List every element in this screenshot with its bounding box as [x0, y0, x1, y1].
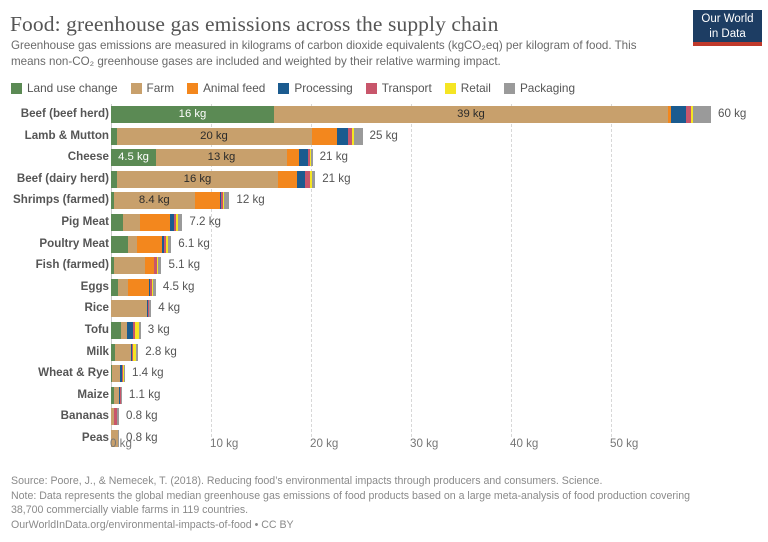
legend-label: Retail — [461, 81, 491, 95]
bar-row[interactable]: Maize1.1 kg — [0, 385, 768, 407]
legend-label: Packaging — [520, 81, 575, 95]
stacked-bar[interactable] — [111, 214, 182, 231]
legend-swatch-icon — [11, 83, 22, 94]
bar-segment-farm[interactable]: 8.4 kg — [114, 192, 195, 209]
category-label: Bananas — [61, 409, 109, 422]
bar-segment-packaging[interactable] — [178, 214, 183, 231]
bar-segment-packaging[interactable] — [158, 257, 162, 274]
stacked-bar[interactable] — [111, 322, 141, 339]
chart-page: Food: greenhouse gas emissions across th… — [0, 0, 768, 542]
bar-segment-packaging[interactable] — [121, 387, 122, 404]
bar-segment-packaging[interactable] — [693, 106, 711, 123]
bar-row[interactable]: Wheat & Rye1.4 kg — [0, 363, 768, 385]
segment-value-label: 20 kg — [117, 128, 312, 145]
bar-row[interactable]: Beef (dairy herd)16 kg21 kg — [0, 169, 768, 191]
legend-label: Animal feed — [203, 81, 265, 95]
bar-total-label: 12 kg — [236, 193, 264, 206]
bar-segment-farm[interactable] — [112, 365, 120, 382]
bar-segment-animal-feed[interactable] — [287, 149, 299, 166]
chart-legend: Land use changeFarmAnimal feedProcessing… — [11, 81, 588, 95]
bar-total-label: 2.8 kg — [145, 345, 177, 358]
segment-value-label: 39 kg — [274, 106, 668, 123]
bar-segment-farm[interactable]: 16 kg — [117, 171, 278, 188]
bar-segment-animal-feed[interactable] — [137, 236, 162, 253]
bar-total-label: 5.1 kg — [169, 258, 201, 271]
legend-swatch-icon — [366, 83, 377, 94]
legend-swatch-icon — [504, 83, 515, 94]
category-label: Milk — [86, 345, 109, 358]
page-title: Food: greenhouse gas emissions across th… — [10, 12, 498, 37]
category-label: Rice — [85, 301, 110, 314]
legend-item-transport[interactable]: Transport — [366, 81, 432, 95]
footer-license[interactable]: OurWorldInData.org/environmental-impacts… — [11, 518, 711, 533]
bar-segment-farm[interactable] — [115, 344, 131, 361]
chart-footer: Source: Poore, J., & Nemecek, T. (2018).… — [11, 474, 711, 532]
our-world-in-data-logo[interactable]: Our World in Data — [693, 10, 762, 46]
x-tick-label: 50 kg — [610, 437, 638, 450]
bar-row[interactable]: Milk2.8 kg — [0, 342, 768, 364]
bar-segment-packaging[interactable] — [139, 322, 141, 339]
bar-segment-land-use-change[interactable]: 4.5 kg — [111, 149, 156, 166]
bar-total-label: 4.5 kg — [163, 280, 195, 293]
category-label: Beef (dairy herd) — [17, 172, 109, 185]
bar-total-label: 7.2 kg — [189, 215, 221, 228]
bar-segment-packaging[interactable] — [312, 171, 316, 188]
legend-item-packaging[interactable]: Packaging — [504, 81, 575, 95]
bar-segment-packaging[interactable] — [153, 279, 156, 296]
bar-row[interactable]: Poultry Meat6.1 kg — [0, 234, 768, 256]
category-label: Tofu — [85, 323, 109, 336]
bar-row[interactable]: Pig Meat7.2 kg — [0, 212, 768, 234]
bar-segment-processing[interactable] — [337, 128, 348, 145]
category-label: Eggs — [81, 280, 109, 293]
stacked-bar[interactable] — [111, 387, 122, 404]
legend-item-land-use-change[interactable]: Land use change — [11, 81, 118, 95]
category-label: Cheese — [68, 150, 109, 163]
x-tick-label: 10 kg — [210, 437, 238, 450]
bar-row[interactable]: Cheese4.5 kg13 kg21 kg — [0, 147, 768, 169]
stacked-bar[interactable] — [111, 408, 119, 425]
bar-segment-land-use-change[interactable] — [111, 322, 121, 339]
segment-value-label: 8.4 kg — [114, 192, 195, 209]
bar-segment-farm[interactable] — [128, 236, 137, 253]
bar-total-label: 6.1 kg — [178, 237, 210, 250]
bar-rows: Beef (beef herd)16 kg39 kg60 kgLamb & Mu… — [0, 104, 768, 450]
legend-label: Transport — [382, 81, 432, 95]
bar-segment-packaging[interactable] — [117, 408, 119, 425]
bar-row[interactable]: Lamb & Mutton20 kg25 kg — [0, 126, 768, 148]
footer-note: Note: Data represents the global median … — [11, 489, 711, 518]
stacked-bar[interactable] — [111, 257, 161, 274]
bar-total-label: 1.1 kg — [129, 388, 161, 401]
bar-total-label: 3 kg — [148, 323, 170, 336]
category-label: Shrimps (farmed) — [13, 193, 109, 206]
bar-segment-land-use-change[interactable]: 16 kg — [111, 106, 274, 123]
bar-row[interactable]: Fish (farmed)5.1 kg — [0, 255, 768, 277]
bar-segment-farm[interactable]: 20 kg — [117, 128, 312, 145]
bar-row[interactable]: Rice4 kg — [0, 298, 768, 320]
x-tick-label: 40 kg — [510, 437, 538, 450]
bar-segment-farm[interactable] — [118, 279, 128, 296]
category-label: Beef (beef herd) — [21, 107, 109, 120]
category-label: Maize — [77, 388, 109, 401]
bar-total-label: 60 kg — [718, 107, 746, 120]
category-label: Pig Meat — [61, 215, 109, 228]
legend-swatch-icon — [131, 83, 142, 94]
bar-total-label: 25 kg — [370, 129, 398, 142]
bar-segment-packaging[interactable] — [149, 300, 151, 317]
bar-segment-packaging[interactable] — [224, 192, 229, 209]
category-label: Wheat & Rye — [38, 366, 109, 379]
category-label: Lamb & Mutton — [25, 129, 109, 142]
legend-swatch-icon — [445, 83, 456, 94]
category-label: Poultry Meat — [39, 237, 109, 250]
bar-total-label: 21 kg — [322, 172, 350, 185]
stacked-bar[interactable] — [111, 344, 138, 361]
bar-segment-animal-feed[interactable] — [278, 171, 297, 188]
bar-segment-packaging[interactable] — [136, 344, 138, 361]
logo-line-1: Our World — [693, 12, 762, 27]
x-tick-label: 30 kg — [410, 437, 438, 450]
bar-segment-processing[interactable] — [297, 171, 305, 188]
bar-segment-animal-feed[interactable] — [128, 279, 149, 296]
bar-segment-farm[interactable] — [123, 214, 140, 231]
bar-segment-processing[interactable] — [671, 106, 687, 123]
logo-line-2: in Data — [693, 27, 762, 42]
bar-row[interactable]: Shrimps (farmed)8.4 kg12 kg — [0, 190, 768, 212]
stacked-bar[interactable] — [111, 236, 171, 253]
stacked-bar[interactable]: 8.4 kg — [111, 192, 229, 209]
legend-item-animal-feed[interactable]: Animal feed — [187, 81, 265, 95]
bar-segment-packaging[interactable] — [311, 149, 313, 166]
segment-value-label: 13 kg — [156, 149, 287, 166]
bar-segment-farm[interactable] — [114, 257, 145, 274]
stacked-bar[interactable] — [111, 365, 125, 382]
bar-row[interactable]: Tofu3 kg — [0, 320, 768, 342]
x-tick-label: 0 kg — [110, 437, 132, 450]
legend-item-retail[interactable]: Retail — [445, 81, 491, 95]
bar-total-label: 4 kg — [158, 301, 180, 314]
bar-total-label: 1.4 kg — [132, 366, 164, 379]
stacked-bar[interactable]: 20 kg — [111, 128, 363, 145]
bar-segment-animal-feed[interactable] — [140, 214, 170, 231]
bar-segment-farm[interactable]: 39 kg — [274, 106, 668, 123]
x-axis: 0 kg10 kg20 kg30 kg40 kg50 kg — [0, 437, 768, 455]
stacked-bar[interactable]: 16 kg — [111, 171, 315, 188]
bar-total-label: 0.8 kg — [126, 409, 158, 422]
bar-segment-animal-feed[interactable] — [145, 257, 155, 274]
bar-row[interactable]: Eggs4.5 kg — [0, 277, 768, 299]
legend-swatch-icon — [187, 83, 198, 94]
legend-item-processing[interactable]: Processing — [278, 81, 352, 95]
legend-item-farm[interactable]: Farm — [131, 81, 175, 95]
legend-label: Processing — [294, 81, 352, 95]
bar-segment-land-use-change[interactable] — [111, 236, 128, 253]
segment-value-label: 4.5 kg — [111, 149, 156, 166]
chart-subtitle: Greenhouse gas emissions are measured in… — [11, 38, 671, 69]
bar-segment-farm[interactable] — [111, 300, 147, 317]
footer-source: Source: Poore, J., & Nemecek, T. (2018).… — [11, 474, 711, 489]
bar-row[interactable]: Beef (beef herd)16 kg39 kg60 kg — [0, 104, 768, 126]
stacked-bar[interactable]: 16 kg39 kg — [111, 106, 711, 123]
bar-row[interactable]: Bananas0.8 kg — [0, 406, 768, 428]
x-tick-label: 20 kg — [310, 437, 338, 450]
bar-segment-packaging[interactable] — [124, 365, 125, 382]
bar-segment-animal-feed[interactable] — [312, 128, 337, 145]
legend-label: Farm — [147, 81, 175, 95]
plot-area: Beef (beef herd)16 kg39 kg60 kgLamb & Mu… — [0, 104, 768, 434]
bar-total-label: 21 kg — [320, 150, 348, 163]
legend-label: Land use change — [27, 81, 118, 95]
bar-segment-farm[interactable]: 13 kg — [156, 149, 287, 166]
stacked-bar[interactable] — [111, 279, 156, 296]
bar-segment-processing[interactable] — [299, 149, 308, 166]
bar-segment-packaging[interactable] — [354, 128, 363, 145]
bar-segment-animal-feed[interactable] — [195, 192, 220, 209]
stacked-bar[interactable] — [111, 300, 151, 317]
segment-value-label: 16 kg — [111, 106, 274, 123]
category-label: Fish (farmed) — [36, 258, 109, 271]
segment-value-label: 16 kg — [117, 171, 278, 188]
stacked-bar[interactable]: 4.5 kg13 kg — [111, 149, 313, 166]
bar-segment-land-use-change[interactable] — [111, 214, 123, 231]
bar-segment-packaging[interactable] — [168, 236, 171, 253]
legend-swatch-icon — [278, 83, 289, 94]
